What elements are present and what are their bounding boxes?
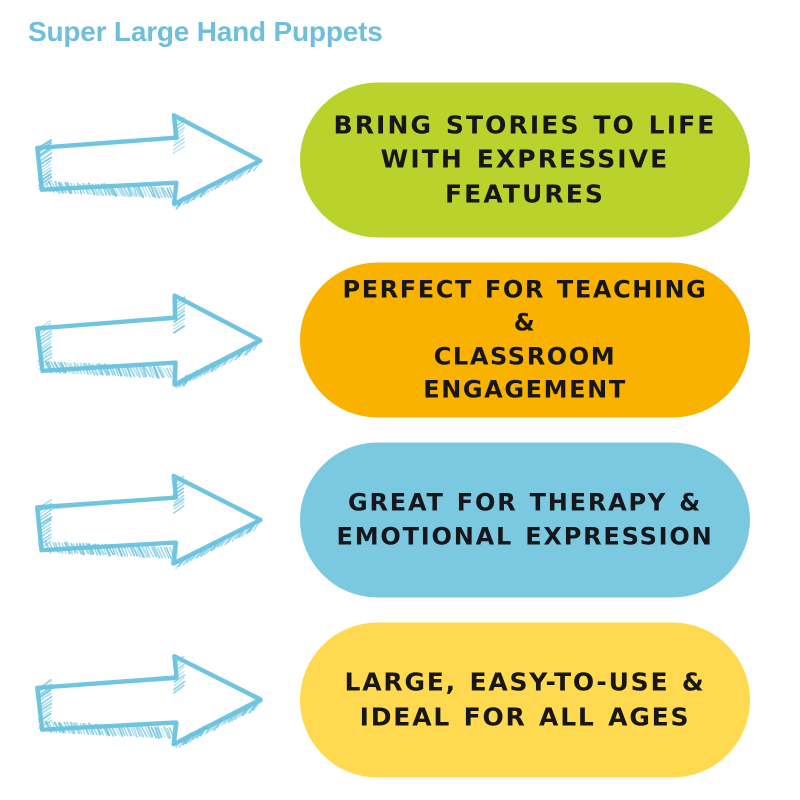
feature-pill[interactable]: Great for therapy & emotional expression [300, 443, 750, 598]
feature-text: Large, easy-to-use & ideal for all ages [345, 666, 706, 735]
feature-text: Great for therapy & emotional expression [337, 487, 714, 553]
infographic-canvas: Super Large Hand Puppets Bring stories t… [0, 0, 800, 800]
feature-text: Bring stories to life with expressive fe… [334, 108, 717, 212]
feature-pill[interactable]: Bring stories to life with expressive fe… [300, 83, 750, 238]
page-title: Super Large Hand Puppets [28, 16, 383, 48]
feature-text: Perfect for teaching & classroom engagem… [326, 274, 724, 406]
hand-drawn-right-arrow-icon [24, 648, 274, 752]
feature-pill[interactable]: Perfect for teaching & classroom engagem… [300, 263, 750, 418]
feature-list: Bring stories to life with expressive fe… [0, 70, 800, 790]
feature-row: Great for therapy & emotional expression [0, 430, 800, 610]
hand-drawn-right-arrow-icon [24, 468, 274, 572]
feature-row: Bring stories to life with expressive fe… [0, 70, 800, 250]
feature-row: Perfect for teaching & classroom engagem… [0, 250, 800, 430]
feature-row: Large, easy-to-use & ideal for all ages [0, 610, 800, 790]
feature-pill[interactable]: Large, easy-to-use & ideal for all ages [300, 623, 750, 778]
hand-drawn-right-arrow-icon [24, 108, 274, 212]
hand-drawn-right-arrow-icon [24, 288, 274, 392]
